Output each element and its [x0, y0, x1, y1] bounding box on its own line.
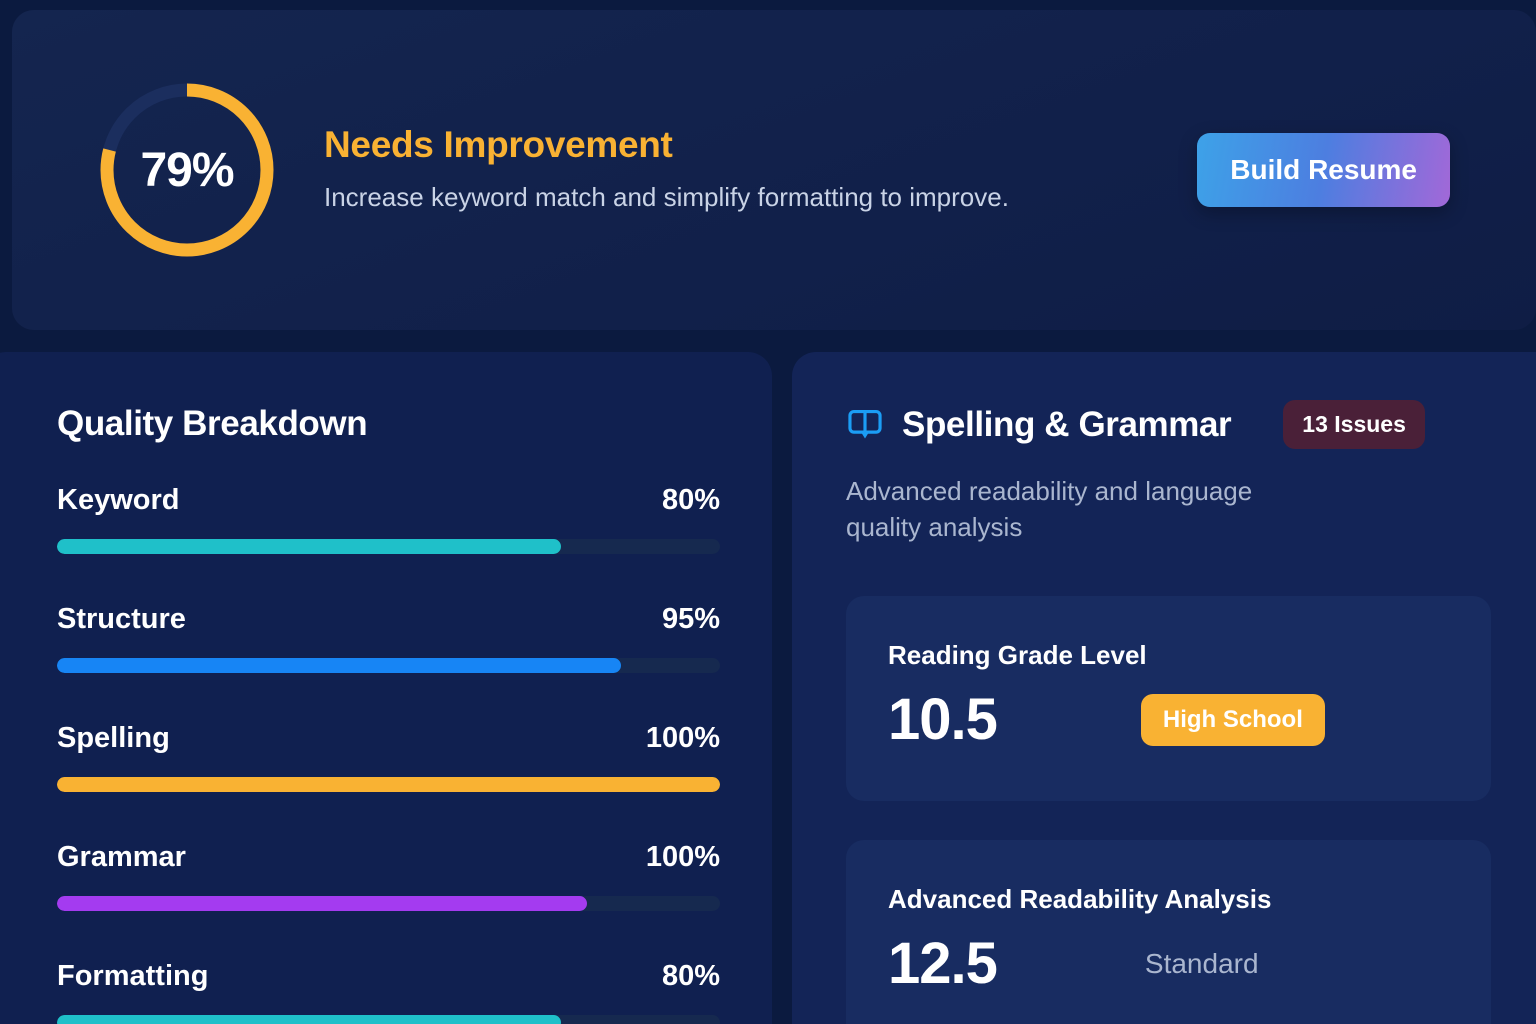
advanced-readability-value: 12.5 [888, 930, 997, 997]
quality-metric-name: Structure [57, 603, 186, 636]
quality-metric-header: Grammar100% [57, 841, 720, 874]
quality-metric-row: Formatting80% [57, 960, 720, 1024]
quality-metric-value: 100% [646, 841, 720, 874]
quality-metric-header: Formatting80% [57, 960, 720, 993]
spelling-grammar-header: Spelling & Grammar 13 Issues [846, 400, 1536, 449]
open-book-icon [846, 406, 884, 444]
quality-metric-track [57, 777, 720, 792]
quality-metric-row: Grammar100% [57, 841, 720, 911]
quality-metric-header: Structure95% [57, 603, 720, 636]
spelling-grammar-panel: Spelling & Grammar 13 Issues Advanced re… [792, 352, 1536, 1024]
score-percent-label: 79% [92, 75, 282, 265]
score-status-subtitle: Increase keyword match and simplify form… [324, 180, 1024, 215]
quality-metric-track [57, 658, 720, 673]
score-status-title: Needs Improvement [324, 124, 1197, 166]
quality-metric-track [57, 539, 720, 554]
build-resume-button[interactable]: Build Resume [1197, 133, 1450, 207]
issues-count-badge[interactable]: 13 Issues [1283, 400, 1425, 449]
quality-metric-name: Grammar [57, 841, 186, 874]
quality-metric-value: 80% [662, 960, 720, 993]
spelling-grammar-title: Spelling & Grammar [902, 405, 1231, 445]
quality-metric-fill [57, 539, 561, 554]
quality-metric-track [57, 896, 720, 911]
quality-breakdown-title: Quality Breakdown [57, 404, 367, 444]
quality-metric-row: Structure95% [57, 603, 720, 673]
advanced-readability-tag: Standard [1145, 948, 1259, 980]
advanced-readability-card: Advanced Readability Analysis 12.5 Stand… [846, 840, 1491, 1024]
dashboard-panels: Quality Breakdown Keyword80%Structure95%… [0, 352, 1536, 1024]
spelling-grammar-subtitle: Advanced readability and language qualit… [846, 474, 1316, 546]
quality-metric-name: Formatting [57, 960, 208, 993]
advanced-readability-title: Advanced Readability Analysis [888, 884, 1271, 915]
reading-grade-level-value: 10.5 [888, 686, 997, 753]
overall-score-card: 79% Needs Improvement Increase keyword m… [12, 10, 1536, 330]
reading-grade-level-title: Reading Grade Level [888, 640, 1147, 671]
score-summary: Needs Improvement Increase keyword match… [324, 124, 1197, 215]
quality-metric-fill [57, 658, 621, 673]
reading-grade-level-row: 10.5 High School [888, 686, 1325, 753]
quality-metric-header: Keyword80% [57, 484, 720, 517]
score-ring: 79% [92, 75, 282, 265]
quality-metric-track [57, 1015, 720, 1024]
advanced-readability-row: 12.5 Standard [888, 930, 1259, 997]
quality-metric-row: Spelling100% [57, 722, 720, 792]
quality-metric-row: Keyword80% [57, 484, 720, 554]
quality-metric-header: Spelling100% [57, 722, 720, 755]
quality-metric-value: 80% [662, 484, 720, 517]
ats-score-dashboard: 79% Needs Improvement Increase keyword m… [0, 0, 1536, 1024]
quality-metric-name: Keyword [57, 484, 179, 517]
quality-metric-value: 95% [662, 603, 720, 636]
quality-metric-fill [57, 1015, 561, 1024]
reading-grade-level-card: Reading Grade Level 10.5 High School [846, 596, 1491, 801]
reading-grade-level-tag: High School [1141, 694, 1325, 746]
quality-metrics-list: Keyword80%Structure95%Spelling100%Gramma… [57, 484, 720, 1024]
quality-metric-value: 100% [646, 722, 720, 755]
quality-metric-fill [57, 896, 587, 911]
quality-metric-name: Spelling [57, 722, 170, 755]
quality-metric-fill [57, 777, 720, 792]
quality-breakdown-panel: Quality Breakdown Keyword80%Structure95%… [0, 352, 772, 1024]
